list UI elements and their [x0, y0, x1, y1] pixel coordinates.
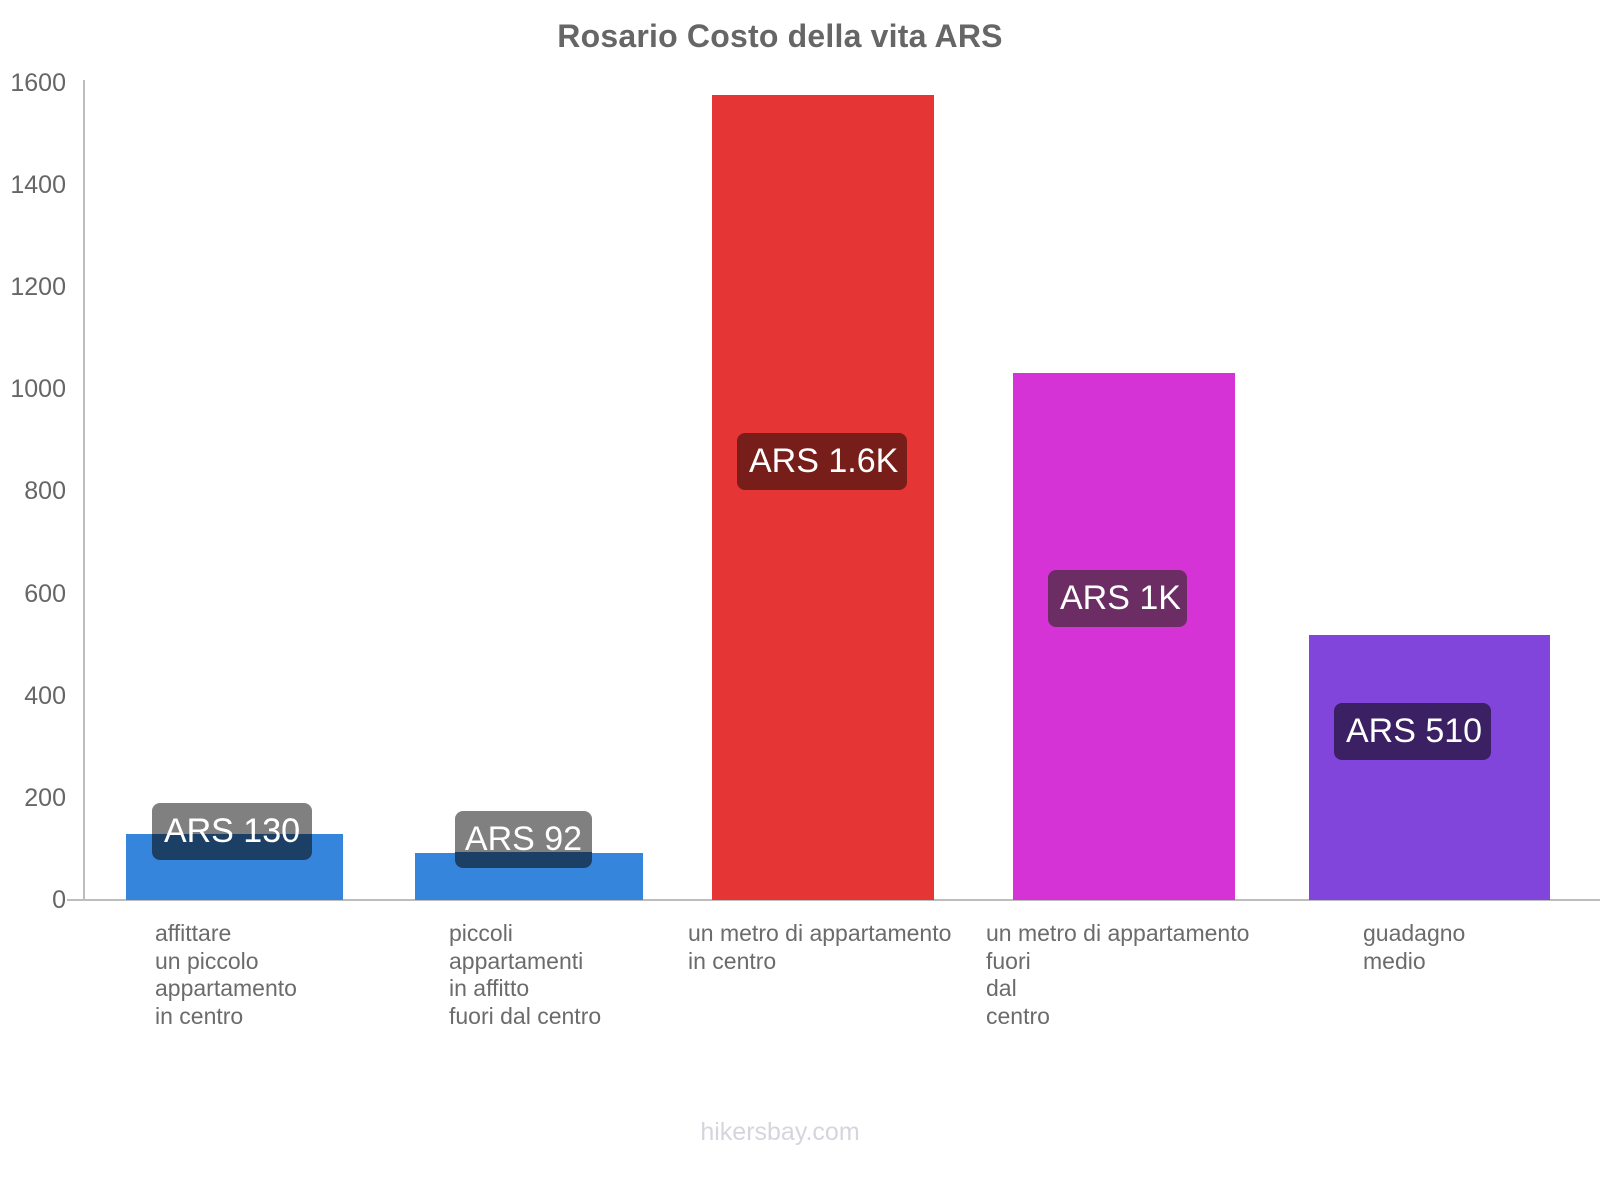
x-axis-label-line: medio [1363, 948, 1465, 976]
bar-value-label-text: ARS 1K [1060, 579, 1181, 617]
bar-value-label-text-over: ARS 130 [152, 803, 312, 860]
y-tick-label: 1400 [0, 173, 66, 198]
bar-value-label: ARS 130 ARS 130 [152, 803, 312, 860]
x-axis-label-line: appartamento [155, 975, 297, 1003]
x-axis-label-line: un piccolo [155, 948, 297, 976]
bar-value-label-text: ARS 92 [455, 811, 592, 868]
x-axis-label-line: guadagno [1363, 920, 1465, 948]
x-axis-label-affittare-un-piccolo-appartamento-in-centro: affittare un piccolo appartamento in cen… [155, 920, 297, 1030]
x-axis-label-line: in centro [155, 1003, 297, 1031]
x-axis-label-piccoli-appartamenti-in-affitto-fuori-dal-centro: piccoli appartamenti in affitto fuori da… [449, 920, 601, 1030]
bar-value-label: ARS 92 [455, 811, 592, 868]
x-axis-label-line: piccoli [449, 920, 601, 948]
y-tick-label: 600 [0, 582, 66, 607]
x-axis-label-un-metro-di-appartamento-fuori-dal-centro: un metro di appartamento fuori dal centr… [986, 920, 1249, 1030]
y-tick-label: 0 [0, 888, 66, 913]
bar-guadagno-medio[interactable] [1309, 635, 1550, 900]
x-axis-label-line: fuori dal centro [449, 1003, 601, 1031]
bar-un-metro-di-appartamento-in-centro[interactable] [712, 95, 934, 900]
x-axis-label-line: in affitto [449, 975, 601, 1003]
x-axis-label-line: centro [986, 1003, 1249, 1031]
bar-un-metro-di-appartamento-fuori-dal-centro[interactable] [1013, 373, 1235, 900]
x-axis-label-line: dal [986, 975, 1249, 1003]
bar-value-label: ARS 1.6K [737, 433, 907, 490]
y-tick-label: 1200 [0, 275, 66, 300]
y-tick-label: 800 [0, 479, 66, 504]
chart-container: Rosario Costo della vita ARS 1600 1400 1… [0, 0, 1600, 1200]
x-axis-label-line: un metro di appartamento [688, 920, 951, 948]
x-axis-label-line: in centro [688, 948, 951, 976]
y-tick-label: 200 [0, 786, 66, 811]
y-tick-label: 1000 [0, 377, 66, 402]
x-axis-label-line: affittare [155, 920, 297, 948]
x-axis-label-un-metro-di-appartamento-in-centro: un metro di appartamento in centro [688, 920, 951, 975]
x-axis-label-line: un metro di appartamento [986, 920, 1249, 948]
plot-area: 1600 1400 1200 1000 800 600 400 200 0 AR… [0, 0, 1600, 1200]
footer-watermark: hikersbay.com [0, 1118, 1560, 1147]
y-tick-label: 1600 [0, 71, 66, 96]
bar-value-label-text: ARS 510 [1346, 712, 1482, 750]
bar-value-label: ARS 1K [1048, 570, 1187, 627]
y-axis-line [83, 80, 85, 900]
x-axis-label-line: fuori [986, 948, 1249, 976]
bar-value-label-text: ARS 1.6K [749, 442, 898, 480]
bar-value-label: ARS 510 [1334, 703, 1491, 760]
x-axis-label-guadagno-medio: guadagno medio [1363, 920, 1465, 975]
y-tick-label: 400 [0, 684, 66, 709]
x-axis-label-line: appartamenti [449, 948, 601, 976]
